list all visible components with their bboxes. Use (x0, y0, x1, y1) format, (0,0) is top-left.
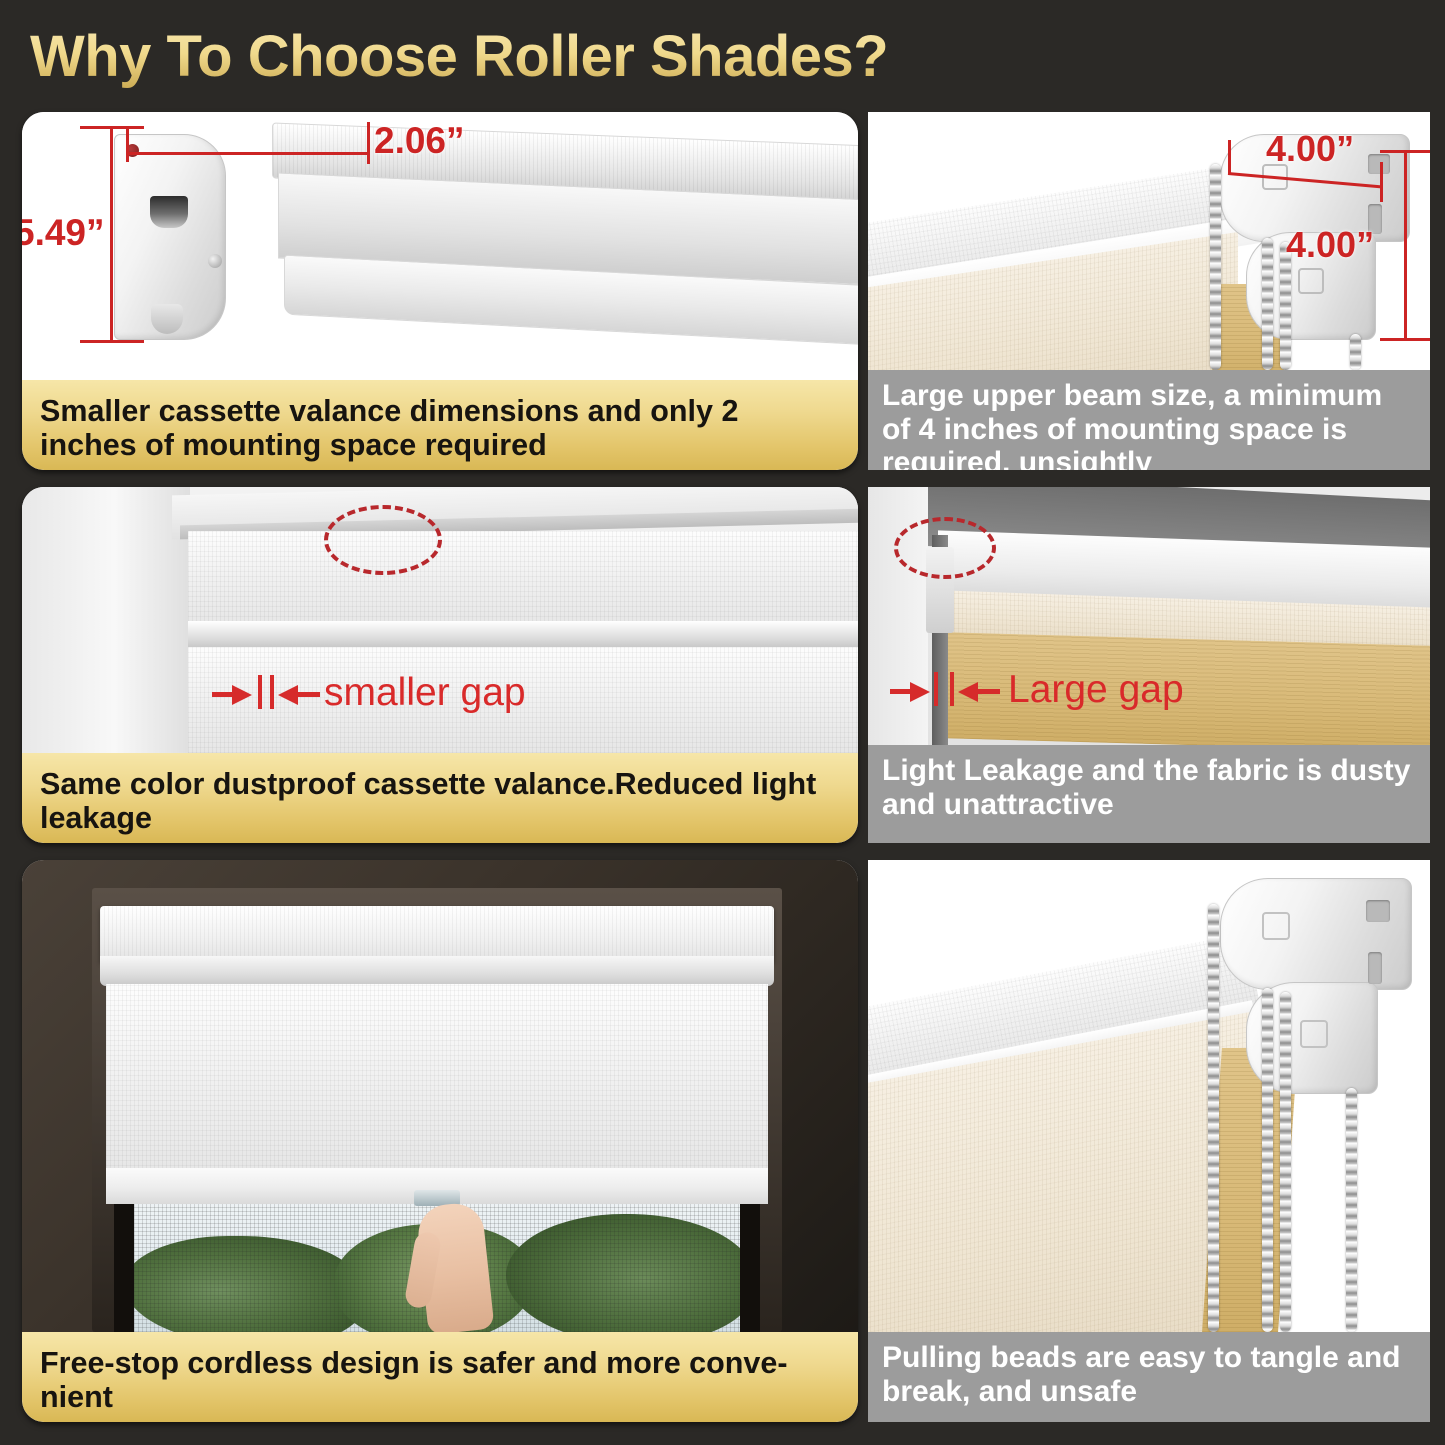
gap-arrow-tail-left (212, 692, 234, 697)
dim-label-width: 2.06” (374, 120, 465, 162)
gap-arrow-right-icon (232, 685, 252, 705)
panel-photo-pulling-beads (868, 860, 1430, 1332)
bead-chain-bottom-2 (1262, 988, 1273, 1332)
roller-opening-icon (150, 196, 188, 228)
bead-chain-bottom-1 (1208, 904, 1219, 1332)
gap-label-smaller: smaller gap (324, 671, 526, 715)
caption-line-2: nient (40, 1380, 113, 1414)
bead-chain-bottom-3 (1280, 992, 1291, 1332)
gap-highlight-ellipse-visible (324, 505, 442, 575)
bracket-arrow-icon-lower (1298, 268, 1324, 294)
bead-chain-1 (1210, 164, 1221, 370)
gap-label-large: Large gap (1008, 668, 1184, 712)
panel-photo-cassette-valance: 2.06” 5.49” (22, 112, 858, 380)
panel-dustproof-cassette-valance: smaller gap Same color dustproof cassett… (22, 487, 858, 843)
panel-photo-large-upper-beam: 4.00” 4.00” (868, 112, 1430, 370)
panel-photo-light-leakage: Large gap (868, 487, 1430, 745)
bead-chain-bottom-4 (1346, 1088, 1357, 1332)
gap-arrow-tail-right (298, 692, 320, 697)
caption-line-1: Free-stop cordless design is safer and m… (40, 1346, 788, 1380)
bracket-slot-bottom-lower (1368, 952, 1382, 984)
dim-line-206 (126, 152, 369, 155)
window-frame-left (22, 487, 190, 753)
cassette-valance-header (100, 906, 774, 962)
dim-tick-right-400w (1380, 162, 1383, 202)
bracket-slot-upper (1368, 154, 1390, 174)
large-gap-arrow-tail-right (978, 689, 1000, 694)
panel-pulling-beads: Pulling beads are easy to tangle and bre… (868, 860, 1430, 1422)
screw-icon-mid (208, 254, 222, 268)
dim-tick-left-400w (1228, 140, 1231, 174)
panel-caption-free-stop-cordless: Free-stop cordless design is safer and m… (22, 1332, 858, 1422)
panel-caption-light-leakage: Light Leakage and the fabric is dusty an… (868, 745, 1430, 843)
large-gap-arrow-tail-left (890, 689, 912, 694)
panel-caption-cassette-valance: Smaller cassette valance dimensions and … (22, 380, 858, 470)
panel-light-leakage: Large gap Light Leakage and the fabric i… (868, 487, 1430, 843)
panel-caption-pulling-beads: Pulling beads are easy to tangle and bre… (868, 1332, 1430, 1422)
bead-chain-4 (1350, 334, 1361, 370)
bracket-arrow-icon-bottom-upper (1262, 912, 1290, 940)
large-gap-bar-left (934, 672, 938, 706)
dim-label-beam-width: 4.00” (1266, 128, 1354, 170)
panel-large-upper-beam: 4.00” 4.00” Large upper beam size, a min… (868, 112, 1430, 470)
page-title: Why To Choose Roller Shades? (30, 22, 1410, 92)
large-gap-bar-right (950, 672, 954, 706)
large-gap-arrow-left-icon (958, 682, 978, 702)
dim-label-height: 5.49” (22, 212, 105, 254)
panel-photo-dustproof-valance: smaller gap (22, 487, 858, 753)
cassette-valance-lip (100, 956, 774, 986)
infographic-page: Why To Choose Roller Shades? 2.06” (0, 0, 1445, 1445)
mounting-bracket-bottom (1220, 878, 1412, 990)
dim-label-beam-height: 4.00” (1286, 224, 1374, 266)
shade-fabric-upper (188, 531, 858, 627)
dim-tick-left-206 (126, 128, 129, 162)
large-gap-arrow-right-icon (910, 682, 930, 702)
dim-tick-right-206 (367, 122, 370, 164)
bead-chain-2 (1262, 238, 1273, 370)
dim-line-400h (1404, 150, 1407, 340)
gap-arrow-left-icon (278, 685, 298, 705)
gap-bar-right (270, 675, 274, 709)
bracket-slot-bottom-upper (1366, 900, 1390, 922)
gap-bar-left (258, 675, 262, 709)
bracket-arrow-icon-bottom-lower (1300, 1020, 1328, 1048)
panel-caption-large-upper-beam: Large upper beam size, a minimum of 4 in… (868, 370, 1430, 470)
panel-caption-dustproof-valance: Same color dustproof cassette valance.Re… (22, 753, 858, 843)
panel-free-stop-cordless: Free-stop cordless design is safer and m… (22, 860, 858, 1422)
dim-line-549 (110, 126, 113, 342)
panel-cassette-valance-dimensions: 2.06” 5.49” Smaller cassette valance dim… (22, 112, 858, 470)
panel-photo-cordless-window (22, 860, 858, 1332)
valance-bottom-rail (188, 621, 858, 647)
light-gap-highlight-ellipse (894, 517, 996, 579)
shade-fabric-main (106, 984, 768, 1176)
